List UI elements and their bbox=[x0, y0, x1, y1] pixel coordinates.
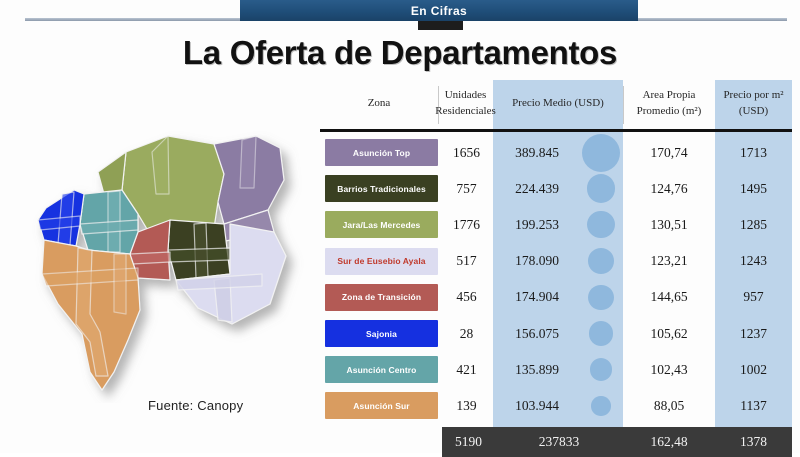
header-unidades: Unidades Residenciales bbox=[438, 80, 493, 128]
price-bubble bbox=[589, 321, 613, 345]
zone-price-per-m2-cell: 1285 bbox=[715, 211, 792, 238]
zone-units-cell: 757 bbox=[438, 175, 495, 202]
zone-label[interactable]: Sur de Eusebio Ayala bbox=[325, 248, 438, 275]
price-bubble bbox=[587, 211, 614, 238]
section-banner: En Cifras bbox=[240, 0, 638, 21]
price-bubble bbox=[590, 358, 612, 380]
banner-label: En Cifras bbox=[411, 4, 467, 18]
zone-area-cell: 102,43 bbox=[623, 356, 715, 383]
zone-label[interactable]: Asunción Sur bbox=[325, 392, 438, 419]
zone-units-cell: 1656 bbox=[438, 139, 495, 166]
zone-label[interactable]: Zona de Transición bbox=[325, 284, 438, 311]
zone-label[interactable]: Sajonia bbox=[325, 320, 438, 347]
zone-price-cell: 156.075 bbox=[493, 320, 581, 347]
header-underline bbox=[320, 129, 792, 132]
zone-area-cell: 130,51 bbox=[623, 211, 715, 238]
zone-label[interactable]: Jara/Las Mercedes bbox=[325, 211, 438, 238]
header-precio-por-m2: Precio por m² (USD) bbox=[715, 80, 792, 128]
price-bubble bbox=[588, 285, 613, 310]
zone-price-cell: 174.904 bbox=[493, 284, 581, 311]
zone-label[interactable]: Barrios Tradicionales bbox=[325, 175, 438, 202]
zone-area-cell: 123,21 bbox=[623, 248, 715, 275]
zone-area-cell: 144,65 bbox=[623, 284, 715, 311]
zone-price-per-m2-cell: 1137 bbox=[715, 392, 792, 419]
zone-price-per-m2-cell: 1713 bbox=[715, 139, 792, 166]
zone-price-cell: 199.253 bbox=[493, 211, 581, 238]
zone-units-cell: 517 bbox=[438, 248, 495, 275]
header-zona: Zona bbox=[320, 80, 438, 128]
source-note: Fuente: Canopy bbox=[148, 398, 243, 413]
zone-units-cell: 28 bbox=[438, 320, 495, 347]
zone-price-per-m2-cell: 1243 bbox=[715, 248, 792, 275]
header-area-propia: Area Propia Promedio (m²) bbox=[623, 80, 715, 128]
zone-units-cell: 421 bbox=[438, 356, 495, 383]
zone-price-cell: 178.090 bbox=[493, 248, 581, 275]
zone-units-cell: 1776 bbox=[438, 211, 495, 238]
zone-area-cell: 88,05 bbox=[623, 392, 715, 419]
zone-price-cell: 135.899 bbox=[493, 356, 581, 383]
zone-area-cell: 124,76 bbox=[623, 175, 715, 202]
zone-price-cell: 103.944 bbox=[493, 392, 581, 419]
zone-price-per-m2-cell: 1495 bbox=[715, 175, 792, 202]
zone-area-cell: 170,74 bbox=[623, 139, 715, 166]
header-precio-medio: Precio Medio (USD) bbox=[493, 80, 623, 128]
zone-area-cell: 105,62 bbox=[623, 320, 715, 347]
price-bubble bbox=[591, 396, 611, 416]
zone-price-cell: 224.439 bbox=[493, 175, 581, 202]
zone-price-per-m2-cell: 957 bbox=[715, 284, 792, 311]
zone-units-cell: 139 bbox=[438, 392, 495, 419]
asuncion-zones-map bbox=[18, 128, 318, 403]
offer-table: Zona Unidades Residenciales Precio Medio… bbox=[320, 80, 792, 435]
slide-canvas: En Cifras La Oferta de Departamentos bbox=[0, 0, 800, 453]
price-bubble bbox=[588, 248, 614, 274]
zone-units-cell: 456 bbox=[438, 284, 495, 311]
zone-price-cell: 389.845 bbox=[493, 139, 581, 166]
zone-price-per-m2-cell: 1002 bbox=[715, 356, 792, 383]
price-bubble bbox=[582, 134, 620, 172]
zone-price-per-m2-cell: 1237 bbox=[715, 320, 792, 347]
zone-label[interactable]: Asunción Centro bbox=[325, 356, 438, 383]
zone-label[interactable]: Asunción Top bbox=[325, 139, 438, 166]
page-title: La Oferta de Departamentos bbox=[0, 34, 800, 72]
banner-tab-marker bbox=[418, 21, 463, 30]
